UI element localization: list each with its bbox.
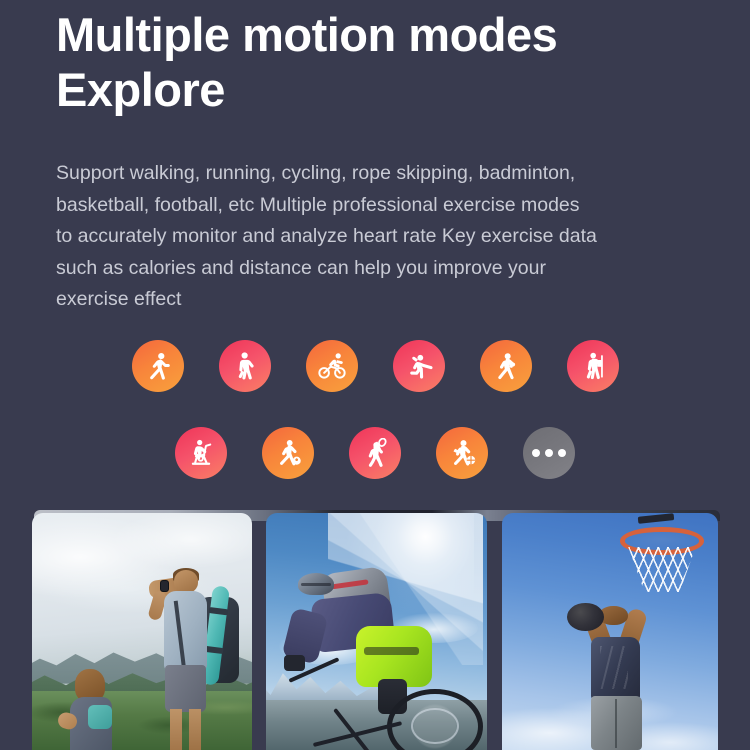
helmet [298, 573, 334, 595]
basketball-photo [502, 513, 718, 750]
sport-mode-row-1 [0, 340, 750, 392]
shorts [591, 696, 642, 750]
sport-mode-yoga[interactable] [393, 340, 445, 392]
more-dot [558, 449, 566, 457]
sport-mode-more[interactable] [523, 427, 575, 479]
more-icon [532, 449, 566, 457]
wrist-watch [160, 580, 168, 593]
hiking-icon [578, 351, 608, 381]
basketball [567, 603, 603, 631]
badminton-icon [360, 438, 390, 468]
sport-mode-row-2 [0, 427, 750, 479]
sport-mode-spinning[interactable] [175, 427, 227, 479]
walking-icon [230, 351, 260, 381]
football-icon [273, 438, 303, 468]
page-title: Multiple motion modes Explore [56, 8, 716, 117]
net [628, 547, 696, 592]
sport-mode-badminton[interactable] [349, 427, 401, 479]
sport-mode-walking[interactable] [219, 340, 271, 392]
mountain-bike [275, 665, 483, 750]
basketball-hoop [614, 518, 713, 599]
head [174, 570, 198, 593]
yoga-icon [404, 351, 434, 381]
photo-card-cycling[interactable] [266, 513, 487, 750]
teal-backpack [88, 705, 112, 729]
tank-top [591, 637, 639, 700]
photo-card-hiking[interactable] [32, 513, 252, 750]
cycling-icon [317, 351, 347, 381]
basketball-icon [447, 438, 477, 468]
photo-card-basketball[interactable] [502, 513, 718, 750]
sport-mode-grid [0, 340, 750, 479]
more-dot [532, 449, 540, 457]
sport-mode-running[interactable] [132, 340, 184, 392]
sport-mode-cycling[interactable] [306, 340, 358, 392]
right-leg [189, 709, 202, 750]
sport-mode-football[interactable] [262, 427, 314, 479]
sport-mode-hiking[interactable] [567, 340, 619, 392]
photo-gallery [0, 505, 750, 750]
sport-mode-basketball[interactable] [436, 427, 488, 479]
basketball-player-figure [562, 603, 683, 750]
more-dot [545, 449, 553, 457]
jogging-icon [491, 351, 521, 381]
product-feature-page: Multiple motion modes Explore Support wa… [0, 0, 750, 750]
cycling-photo [266, 513, 487, 750]
seated-hiker-figure [58, 669, 133, 750]
spinning-bike-icon [186, 438, 216, 468]
sport-mode-jogging[interactable] [480, 340, 532, 392]
left-leg [170, 709, 183, 750]
rear-wheel [387, 689, 483, 750]
running-icon [143, 351, 173, 381]
feature-description: Support walking, running, cycling, rope … [56, 158, 728, 316]
hiker-figure [146, 570, 252, 750]
shorts [165, 665, 205, 712]
hiking-photo [32, 513, 252, 750]
